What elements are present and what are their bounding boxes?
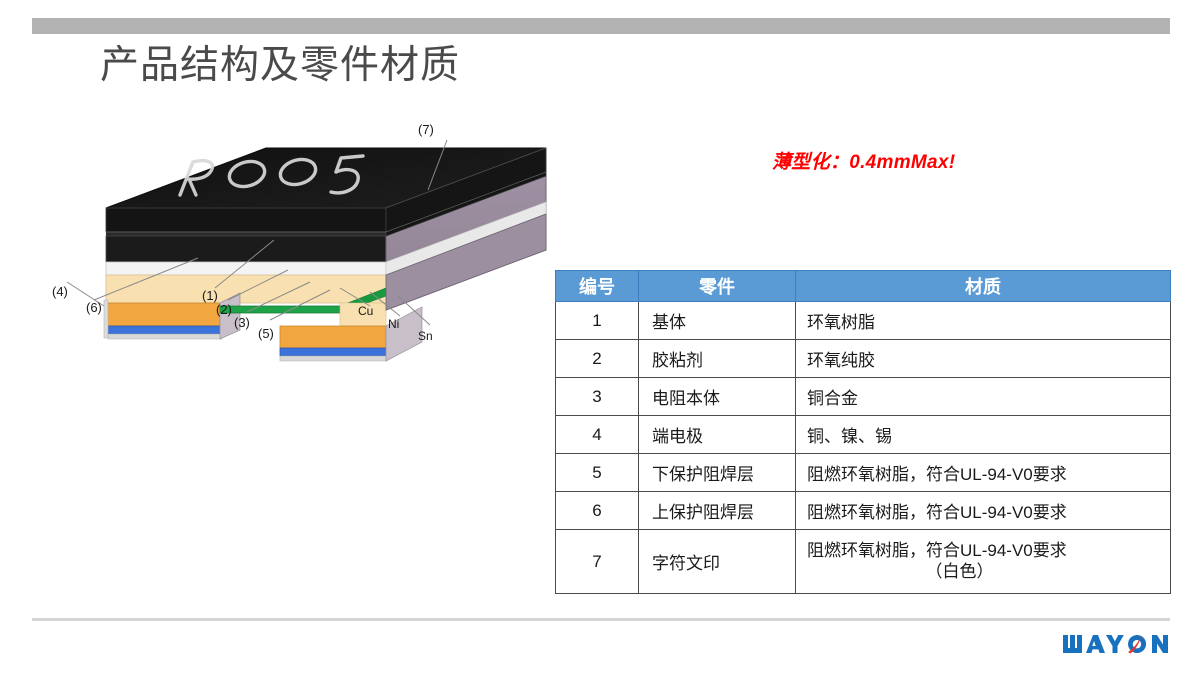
cell-material: 铜合金: [796, 378, 1171, 416]
cell-no: 3: [556, 378, 639, 416]
wayon-logo: [1062, 632, 1170, 658]
callout-7: (7): [418, 122, 434, 137]
page-title: 产品结构及零件材质: [100, 42, 460, 90]
footer-divider: [32, 618, 1170, 621]
cell-part: 字符文印: [639, 530, 796, 594]
cell-part: 电阻本体: [639, 378, 796, 416]
cell-part: 端电极: [639, 416, 796, 454]
column-header-no: 编号: [556, 271, 639, 302]
cell-no: 1: [556, 302, 639, 340]
callout-1: (1): [202, 288, 218, 303]
plating-label-ni: Ni: [388, 317, 399, 331]
callout-5: (5): [258, 326, 274, 341]
thin-profile-note: 薄型化：0.4mmMax!: [772, 147, 955, 174]
cell-no: 6: [556, 492, 639, 530]
cell-no: 2: [556, 340, 639, 378]
material-spec-table: 编号 零件 材质 1 基体 环氧树脂 2 胶粘剂 环氧纯胶 3 电阻本体 铜合金…: [555, 270, 1171, 594]
table-row: 3 电阻本体 铜合金: [556, 378, 1171, 416]
table-row: 7 字符文印 阻燃环氧树脂，符合UL-94-V0要求 （白色）: [556, 530, 1171, 594]
cell-material: 阻燃环氧树脂，符合UL-94-V0要求: [796, 454, 1171, 492]
chip-body: [104, 148, 546, 361]
cell-no: 4: [556, 416, 639, 454]
callout-3: (3): [234, 315, 250, 330]
cell-material: 阻燃环氧树脂，符合UL-94-V0要求 （白色）: [796, 530, 1171, 594]
cell-material-line1: 阻燃环氧树脂，符合UL-94-V0要求: [807, 541, 1067, 560]
callout-4: (4): [52, 284, 68, 299]
table-row: 5 下保护阻焊层 阻燃环氧树脂，符合UL-94-V0要求: [556, 454, 1171, 492]
cell-material: 铜、镍、锡: [796, 416, 1171, 454]
cell-part: 上保护阻焊层: [639, 492, 796, 530]
cell-material-line2: （白色）: [807, 562, 1170, 583]
callout-6: (6): [86, 300, 102, 315]
cell-material: 环氧纯胶: [796, 340, 1171, 378]
cell-part: 胶粘剂: [639, 340, 796, 378]
column-header-material: 材质: [796, 271, 1171, 302]
callout-2: (2): [216, 302, 232, 317]
cell-no: 5: [556, 454, 639, 492]
component-cross-section-diagram: (7) (4) (6) (1) (2) (3) (5) Cu Ni Sn: [30, 110, 550, 370]
cell-no: 7: [556, 530, 639, 594]
table-row: 1 基体 环氧树脂: [556, 302, 1171, 340]
cell-part: 下保护阻焊层: [639, 454, 796, 492]
plating-label-cu: Cu: [358, 304, 373, 318]
column-header-part: 零件: [639, 271, 796, 302]
table-row: 4 端电极 铜、镍、锡: [556, 416, 1171, 454]
table-row: 6 上保护阻焊层 阻燃环氧树脂，符合UL-94-V0要求: [556, 492, 1171, 530]
cell-part: 基体: [639, 302, 796, 340]
plating-label-sn: Sn: [418, 329, 433, 343]
table-row: 2 胶粘剂 环氧纯胶: [556, 340, 1171, 378]
header-accent-bar: [32, 18, 1170, 34]
table-header-row: 编号 零件 材质: [556, 271, 1171, 302]
cell-material: 阻燃环氧树脂，符合UL-94-V0要求: [796, 492, 1171, 530]
cell-material: 环氧树脂: [796, 302, 1171, 340]
